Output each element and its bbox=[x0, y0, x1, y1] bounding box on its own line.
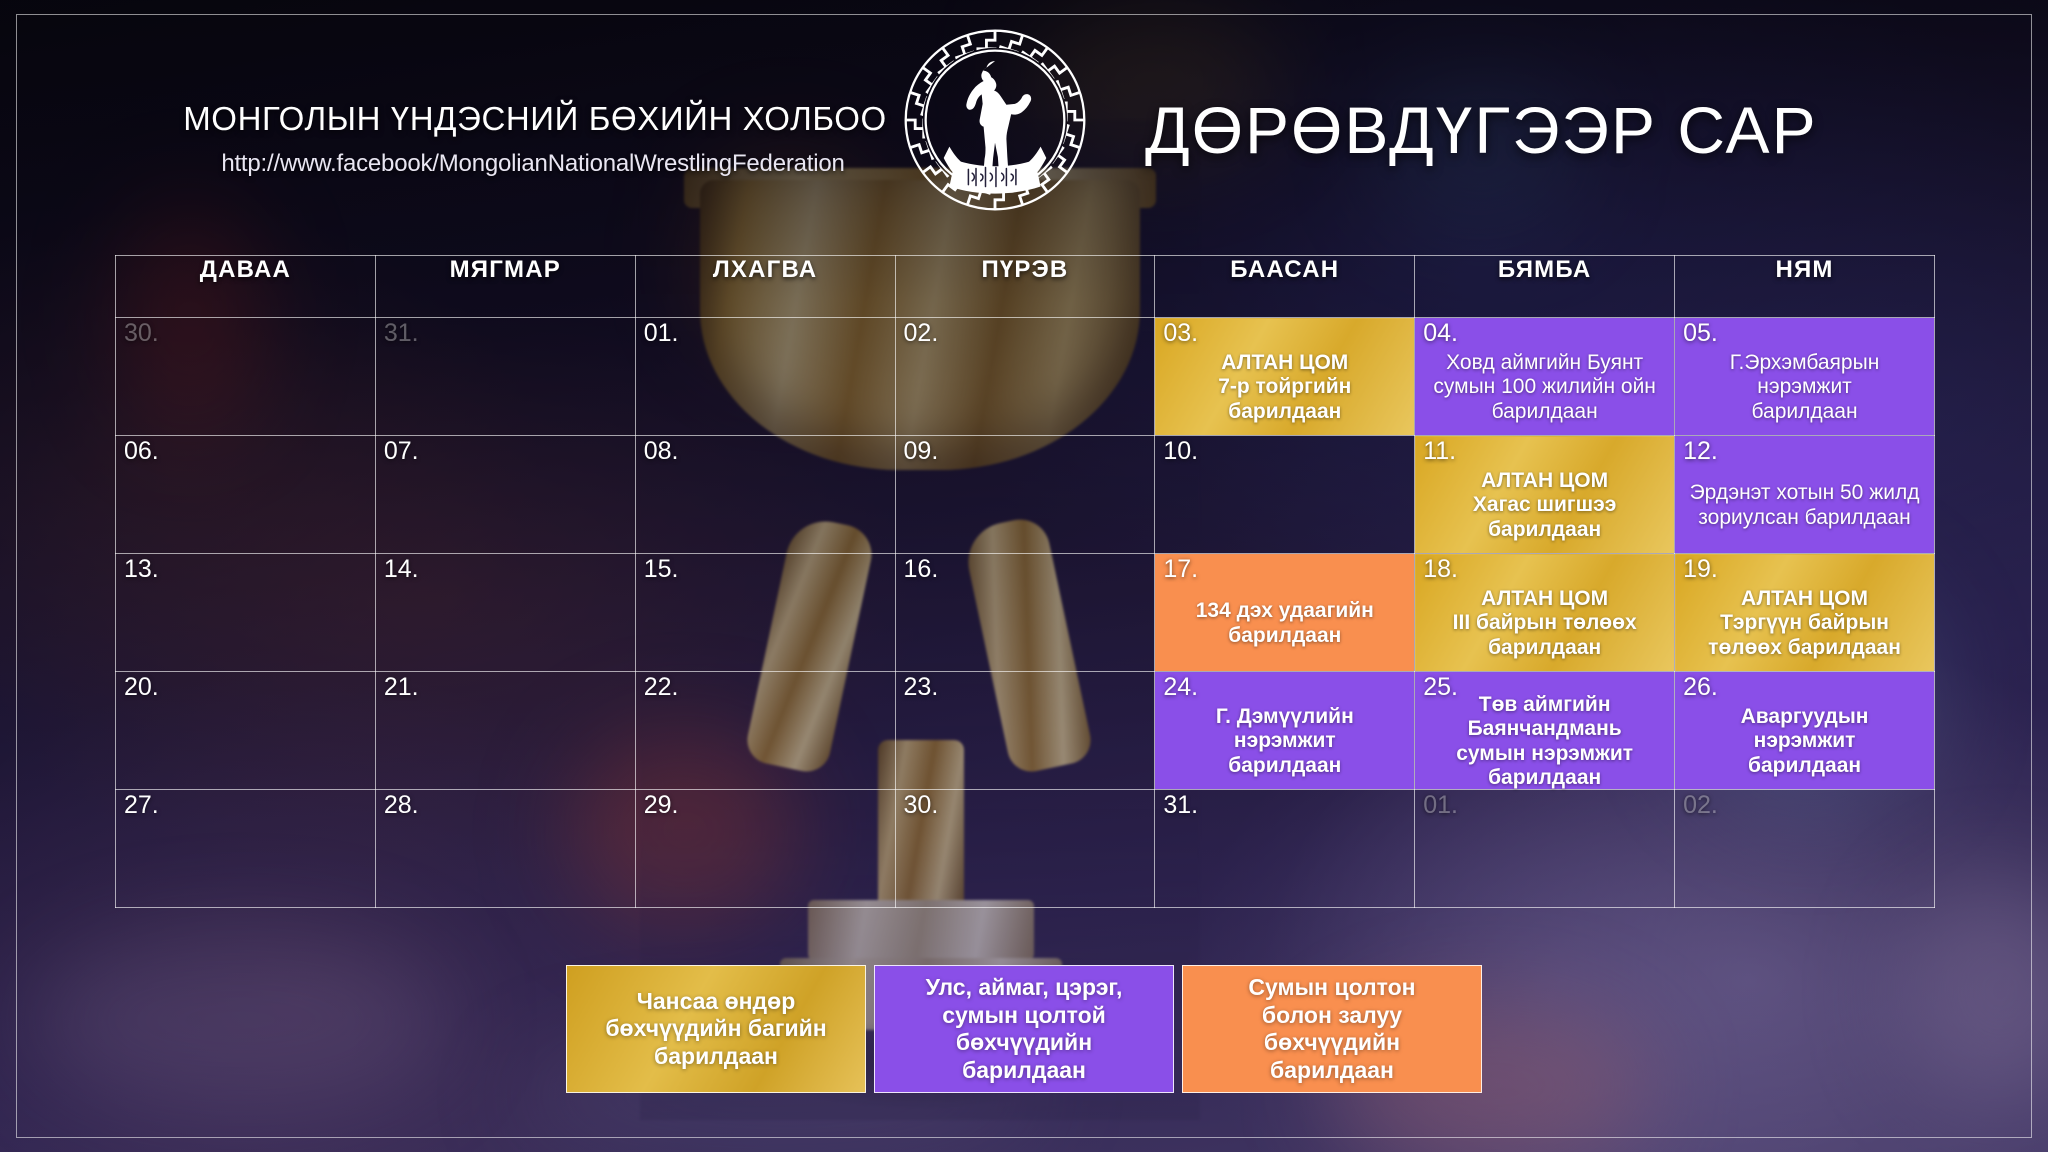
calendar-day-cell[interactable]: 03.АЛТАН ЦОМ7-р тойргийнбарилдаан bbox=[1155, 318, 1415, 436]
calendar-day-cell[interactable]: 07. bbox=[375, 436, 635, 554]
day-event-label: Г.Эрхэмбаярыннэрэмжитбарилдаан bbox=[1679, 344, 1930, 431]
calendar-day-cell[interactable]: 06. bbox=[116, 436, 376, 554]
weekday-header-row: ДАВАА МЯГМАР ЛХАГВА ПҮРЭВ БААСАН БЯМБА Н… bbox=[116, 256, 1935, 318]
legend: Чансаа өндөрбөхчүүдийн багийнбарилдаанУл… bbox=[0, 965, 2048, 1093]
calendar-day-cell[interactable]: 12.Эрдэнэт хотын 50 жилд зориулсан барил… bbox=[1675, 436, 1935, 554]
day-number: 17. bbox=[1163, 556, 1198, 582]
day-number: 21. bbox=[384, 674, 419, 700]
calendar-day-cell[interactable]: 16. bbox=[895, 554, 1155, 672]
calendar-day-cell[interactable]: 01. bbox=[1415, 790, 1675, 908]
day-number: 27. bbox=[124, 792, 159, 818]
day-event-label: АЛТАН ЦОМ7-р тойргийнбарилдаан bbox=[1159, 344, 1410, 431]
calendar-day-cell[interactable]: 21. bbox=[375, 672, 635, 790]
calendar-week-row: 20.21.22.23.24.Г. Дэмүүлийннэрэмжитбарил… bbox=[116, 672, 1935, 790]
banner-ribbon bbox=[944, 147, 1047, 194]
calendar-week-row: 06.07.08.09.10.11.АЛТАН ЦОМХагас шигшээб… bbox=[116, 436, 1935, 554]
calendar-week-row: 13.14.15.16.17.134 дэх удаагийнбарилдаан… bbox=[116, 554, 1935, 672]
wrestler-silhouette-icon bbox=[966, 61, 1031, 170]
day-event-label: АЛТАН ЦОМТэргүүн байрынтөлөөх барилдаан bbox=[1679, 580, 1930, 667]
day-event-label: Г. Дэмүүлийннэрэмжитбарилдаан bbox=[1159, 698, 1410, 785]
day-number: 18. bbox=[1423, 556, 1458, 582]
calendar-day-cell[interactable]: 19.АЛТАН ЦОМТэргүүн байрынтөлөөх барилда… bbox=[1675, 554, 1935, 672]
day-number: 30. bbox=[124, 320, 159, 346]
calendar-day-cell[interactable]: 02. bbox=[895, 318, 1155, 436]
organization-title: МОНГОЛЫН ҮНДЭСНИЙ БӨХИЙН ХОЛБОО bbox=[135, 100, 935, 138]
weekday-header-lhagva: ЛХАГВА bbox=[635, 256, 895, 318]
calendar-day-cell[interactable]: 10. bbox=[1155, 436, 1415, 554]
calendar-day-cell[interactable]: 22. bbox=[635, 672, 895, 790]
day-number: 22. bbox=[644, 674, 679, 700]
legend-item-purple: Улс, аймаг, цэрэг,сумын цолтойбөхчүүдийн… bbox=[874, 965, 1174, 1093]
day-event-label: Ховд аймгийн Буянт сумын 100 жилийн ойн … bbox=[1419, 344, 1670, 431]
calendar-day-cell[interactable]: 31. bbox=[375, 318, 635, 436]
day-number: 09. bbox=[904, 438, 939, 464]
calendar-day-cell[interactable]: 30. bbox=[116, 318, 376, 436]
day-number: 05. bbox=[1683, 320, 1718, 346]
day-number: 15. bbox=[644, 556, 679, 582]
calendar-week-row: 30.31.01.02.03.АЛТАН ЦОМ7-р тойргийнбари… bbox=[116, 318, 1935, 436]
day-number: 31. bbox=[384, 320, 419, 346]
day-event-label: Аваргуудыннэрэмжитбарилдаан bbox=[1679, 698, 1930, 785]
calendar-slide: МОНГОЛЫН ҮНДЭСНИЙ БӨХИЙН ХОЛБОО http://w… bbox=[0, 0, 2048, 1152]
calendar-day-cell[interactable]: 23. bbox=[895, 672, 1155, 790]
calendar-day-cell[interactable]: 20. bbox=[116, 672, 376, 790]
calendar-day-cell[interactable]: 02. bbox=[1675, 790, 1935, 908]
calendar-day-cell[interactable]: 14. bbox=[375, 554, 635, 672]
day-event-label: АЛТАН ЦОМХагас шигшээбарилдаан bbox=[1419, 462, 1670, 549]
calendar-table: ДАВАА МЯГМАР ЛХАГВА ПҮРЭВ БААСАН БЯМБА Н… bbox=[115, 255, 1935, 908]
calendar-day-cell[interactable]: 01. bbox=[635, 318, 895, 436]
day-number: 06. bbox=[124, 438, 159, 464]
day-number: 07. bbox=[384, 438, 419, 464]
calendar-day-cell[interactable]: 11.АЛТАН ЦОМХагас шигшээбарилдаан bbox=[1415, 436, 1675, 554]
day-number: 31. bbox=[1163, 792, 1198, 818]
day-number: 16. bbox=[904, 556, 939, 582]
day-number: 19. bbox=[1683, 556, 1718, 582]
calendar-day-cell[interactable]: 25.Төв аймгийнБаянчандманьсумын нэрэмжит… bbox=[1415, 672, 1675, 790]
calendar-day-cell[interactable]: 27. bbox=[116, 790, 376, 908]
calendar-day-cell[interactable]: 18.АЛТАН ЦОМIII байрын төлөөхбарилдаан bbox=[1415, 554, 1675, 672]
federation-logo-icon bbox=[900, 25, 1090, 215]
day-event-label: 134 дэх удаагийнбарилдаан bbox=[1159, 580, 1410, 667]
day-number: 26. bbox=[1683, 674, 1718, 700]
calendar-day-cell[interactable]: 29. bbox=[635, 790, 895, 908]
day-number: 08. bbox=[644, 438, 679, 464]
day-number: 04. bbox=[1423, 320, 1458, 346]
legend-item-orange: Сумын цолтонболон залуубөхчүүдийнбарилда… bbox=[1182, 965, 1482, 1093]
calendar-day-cell[interactable]: 08. bbox=[635, 436, 895, 554]
calendar-day-cell[interactable]: 17.134 дэх удаагийнбарилдаан bbox=[1155, 554, 1415, 672]
day-number: 13. bbox=[124, 556, 159, 582]
calendar-day-cell[interactable]: 28. bbox=[375, 790, 635, 908]
calendar-day-cell[interactable]: 15. bbox=[635, 554, 895, 672]
weekday-header-nyam: НЯМ bbox=[1675, 256, 1935, 318]
day-number: 23. bbox=[904, 674, 939, 700]
weekday-header-myagmar: МЯГМАР bbox=[375, 256, 635, 318]
day-number: 24. bbox=[1163, 674, 1198, 700]
calendar-day-cell[interactable]: 30. bbox=[895, 790, 1155, 908]
calendar-day-cell[interactable]: 24.Г. Дэмүүлийннэрэмжитбарилдаан bbox=[1155, 672, 1415, 790]
day-number: 01. bbox=[644, 320, 679, 346]
day-number: 03. bbox=[1163, 320, 1198, 346]
day-number: 02. bbox=[1683, 792, 1718, 818]
day-number: 10. bbox=[1163, 438, 1198, 464]
day-number: 14. bbox=[384, 556, 419, 582]
legend-item-gold: Чансаа өндөрбөхчүүдийн багийнбарилдаан bbox=[566, 965, 866, 1093]
day-event-label: АЛТАН ЦОМIII байрын төлөөхбарилдаан bbox=[1419, 580, 1670, 667]
calendar-day-cell[interactable]: 31. bbox=[1155, 790, 1415, 908]
facebook-url[interactable]: http://www.facebook/MongolianNationalWre… bbox=[128, 150, 938, 178]
day-number: 29. bbox=[644, 792, 679, 818]
calendar-day-cell[interactable]: 04.Ховд аймгийн Буянт сумын 100 жилийн о… bbox=[1415, 318, 1675, 436]
calendar-day-cell[interactable]: 13. bbox=[116, 554, 376, 672]
weekday-header-baasan: БААСАН bbox=[1155, 256, 1415, 318]
day-number: 02. bbox=[904, 320, 939, 346]
calendar-day-cell[interactable]: 05.Г.Эрхэмбаярыннэрэмжитбарилдаан bbox=[1675, 318, 1935, 436]
day-number: 20. bbox=[124, 674, 159, 700]
day-number: 25. bbox=[1423, 674, 1458, 700]
day-number: 01. bbox=[1423, 792, 1458, 818]
header: МОНГОЛЫН ҮНДЭСНИЙ БӨХИЙН ХОЛБОО http://w… bbox=[0, 0, 2048, 250]
weekday-header-byamba: БЯМБА bbox=[1415, 256, 1675, 318]
day-number: 28. bbox=[384, 792, 419, 818]
calendar-day-cell[interactable]: 26.Аваргуудыннэрэмжитбарилдаан bbox=[1675, 672, 1935, 790]
calendar-week-row: 27.28.29.30.31.01.02. bbox=[116, 790, 1935, 908]
day-number: 30. bbox=[904, 792, 939, 818]
day-number: 11. bbox=[1423, 438, 1456, 464]
page-title: ДӨРӨВДҮГЭЭР САР bbox=[1145, 92, 1818, 168]
calendar-day-cell[interactable]: 09. bbox=[895, 436, 1155, 554]
day-number: 12. bbox=[1683, 438, 1718, 464]
day-event-label: Төв аймгийнБаянчандманьсумын нэрэмжитбар… bbox=[1419, 698, 1670, 785]
weekday-header-davaa: ДАВАА bbox=[116, 256, 376, 318]
weekday-header-purev: ПҮРЭВ bbox=[895, 256, 1155, 318]
day-event-label: Эрдэнэт хотын 50 жилд зориулсан барилдаа… bbox=[1679, 462, 1930, 549]
